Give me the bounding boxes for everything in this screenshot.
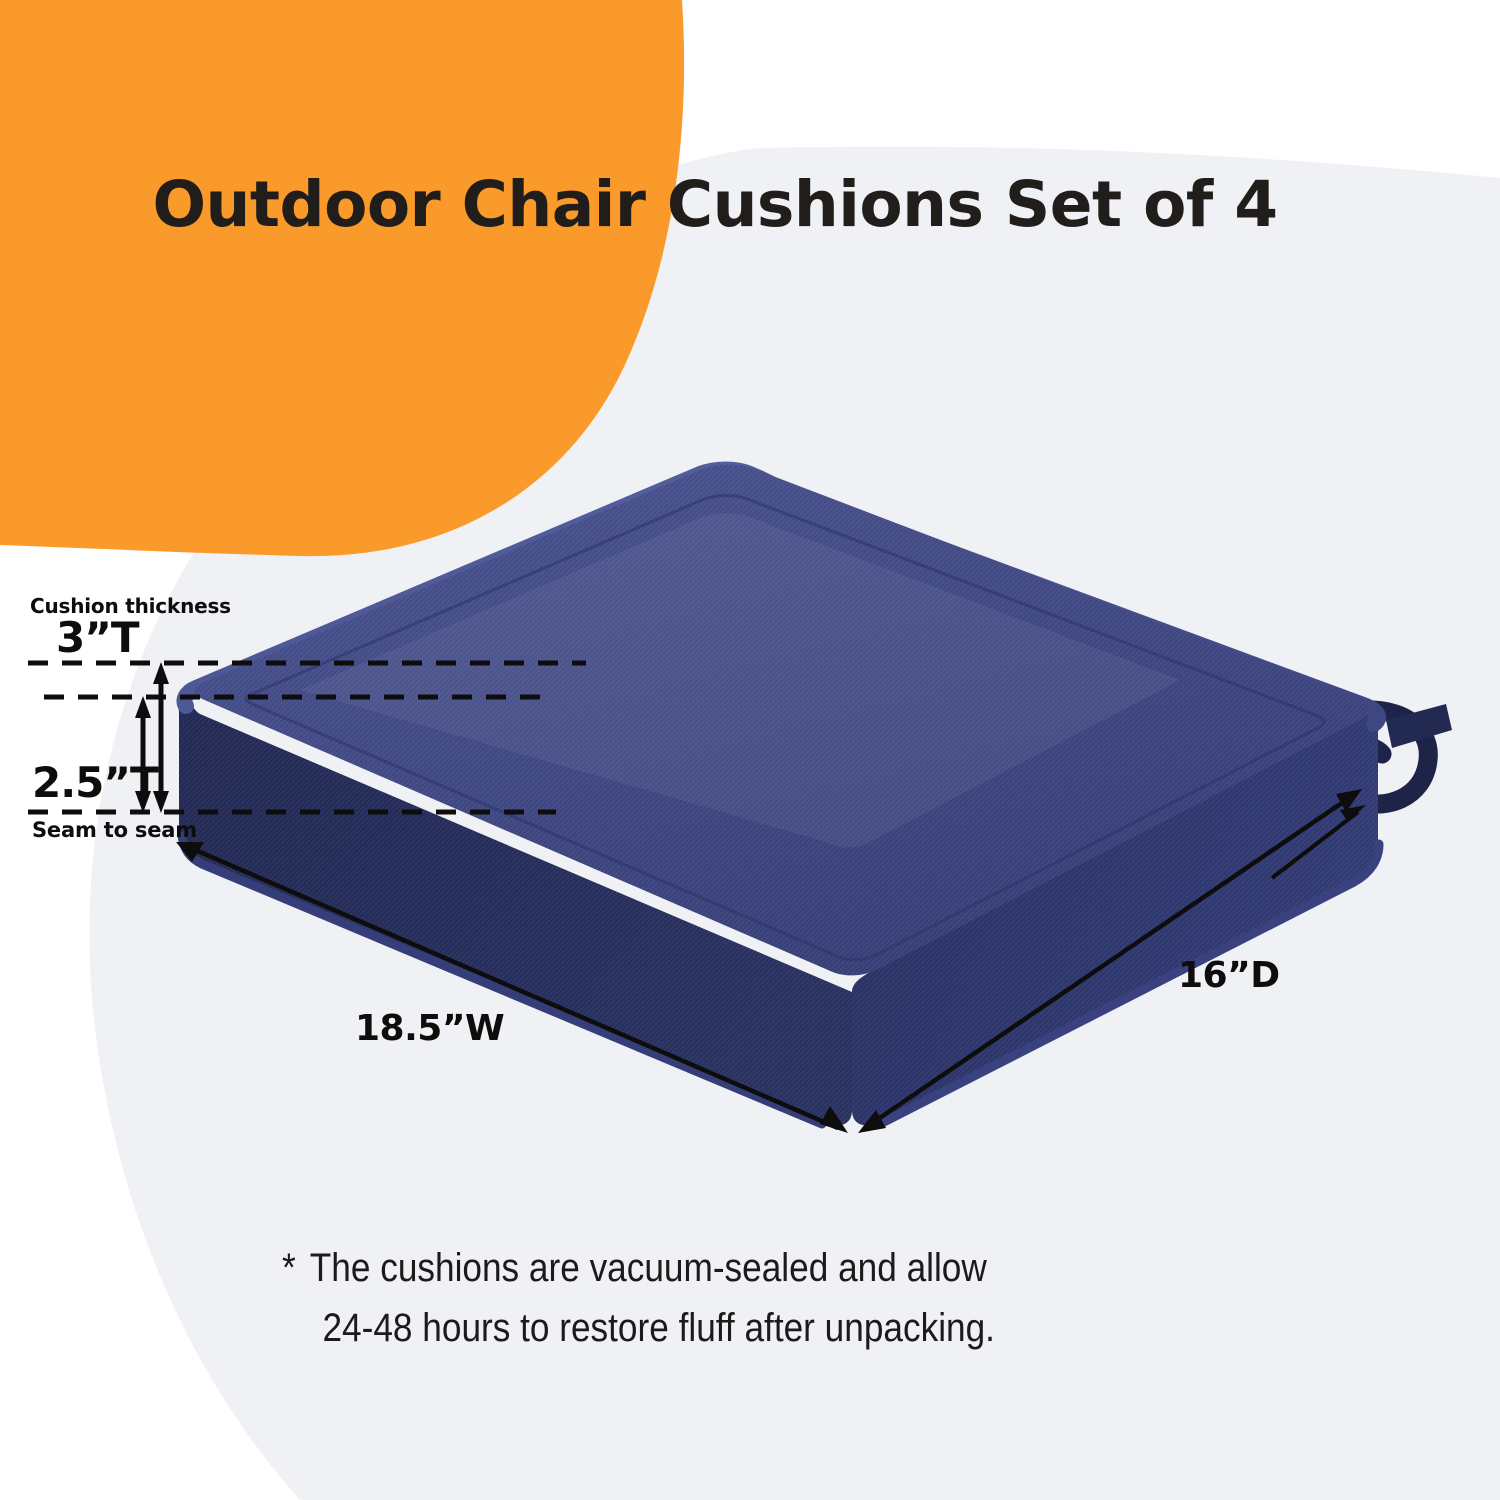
footnote: *The cushions are vacuum-sealed and allo…	[282, 1238, 1162, 1358]
label-width-value: 18.5”W	[355, 1008, 504, 1049]
footnote-marker: *	[282, 1246, 296, 1290]
label-thickness-value: 3”T	[56, 613, 138, 662]
label-seam-value: 2.5”T	[32, 758, 158, 807]
label-depth-value: 16”D	[1178, 955, 1280, 996]
footnote-line-1: The cushions are vacuum-sealed and allow	[310, 1246, 987, 1290]
footnote-line-2: 24-48 hours to restore fluff after unpac…	[322, 1298, 1162, 1358]
label-seam-to-seam: Seam to seam	[32, 818, 197, 842]
product-infographic: Outdoor Chair Cushions Set of 4	[0, 0, 1500, 1500]
